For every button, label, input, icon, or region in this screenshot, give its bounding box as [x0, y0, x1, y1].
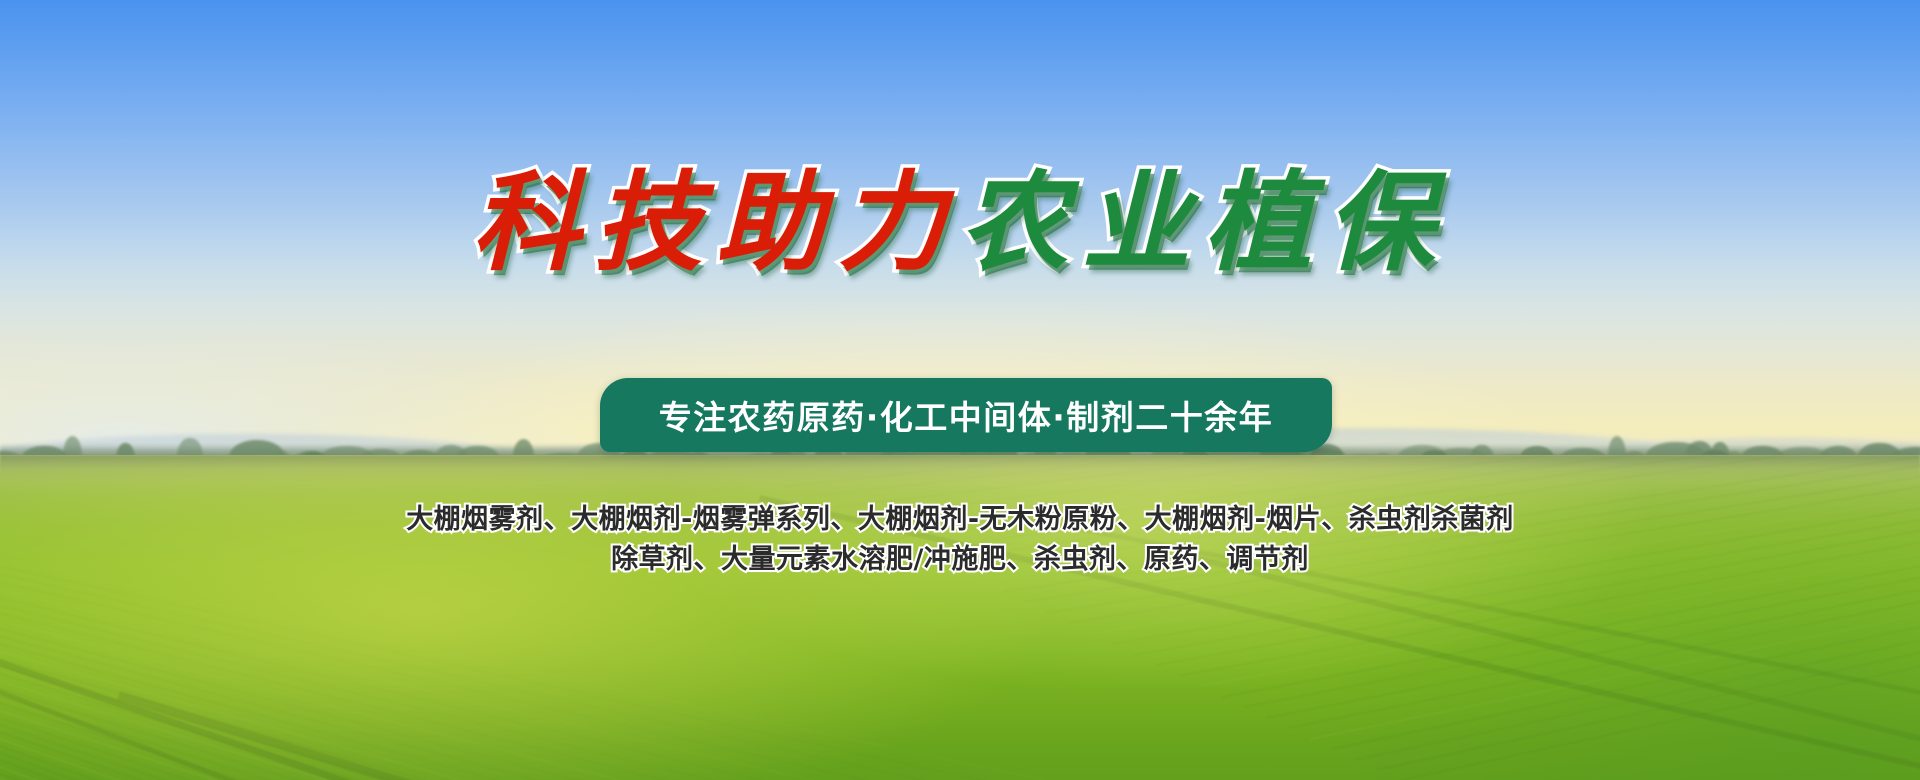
product-line-1: 大棚烟雾剂、大棚烟剂-烟雾弹系列、大棚烟剂-无木粉原粉、大棚烟剂-烟片、杀虫剂杀…	[0, 500, 1920, 540]
headline-red-part: 科技助力	[472, 165, 960, 284]
hero-banner: 科技助力农业植保 专注农药原药·化工中间体·制剂二十余年 大棚烟雾剂、大棚烟剂-…	[0, 0, 1920, 780]
headline-green-part: 农业植保	[960, 165, 1448, 284]
tagline-badge-text: 专注农药原药·化工中间体·制剂二十余年	[659, 391, 1274, 439]
product-line-2: 除草剂、大量元素水溶肥/冲施肥、杀虫剂、原药、调节剂	[0, 540, 1920, 580]
product-list: 大棚烟雾剂、大棚烟剂-烟雾弹系列、大棚烟剂-无木粉原粉、大棚烟剂-烟片、杀虫剂杀…	[0, 500, 1920, 580]
tramline	[0, 576, 1190, 780]
tagline-badge: 专注农药原药·化工中间体·制剂二十余年	[600, 378, 1332, 452]
page-title: 科技助力农业植保	[0, 168, 1920, 281]
